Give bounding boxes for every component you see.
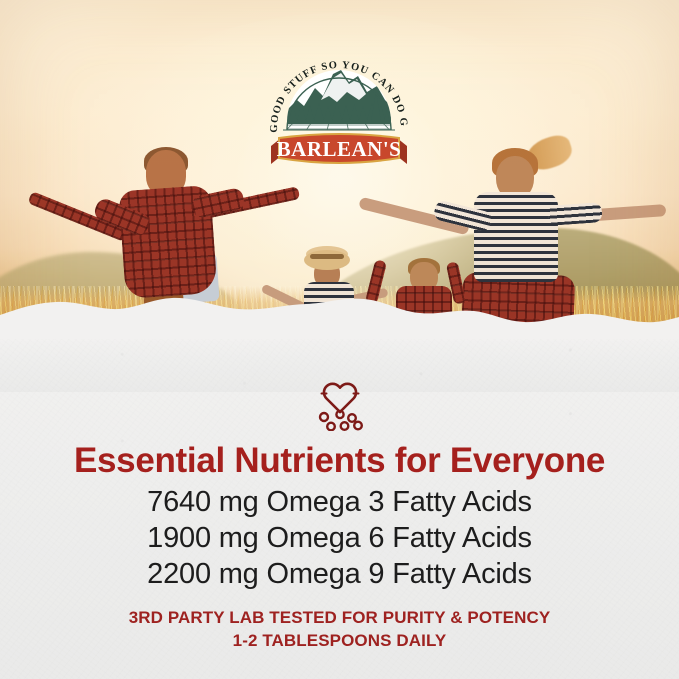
info-content: Essential Nutrients for Everyone 7640 mg… (0, 379, 679, 679)
list-item: 2200 mg Omega 9 Fatty Acids (0, 557, 679, 593)
list-item: 1900 mg Omega 6 Fatty Acids (0, 521, 679, 557)
logo-ribbon-banner: BARLEAN'S (271, 134, 407, 164)
product-infographic-card: WE MAKE GOOD STUFF SO YOU CAN DO GOOD ST… (0, 0, 679, 679)
logo-wordmark: BARLEAN'S (277, 137, 402, 161)
list-item: 7640 mg Omega 3 Fatty Acids (0, 485, 679, 521)
lab-tested-claim: 3RD PARTY LAB TESTED FOR PURITY & POTENC… (0, 607, 679, 630)
torn-edge (0, 285, 679, 341)
page-title: Essential Nutrients for Everyone (0, 443, 679, 479)
claims-block: 3RD PARTY LAB TESTED FOR PURITY & POTENC… (0, 607, 679, 653)
crossed-capsules-icon (313, 379, 367, 431)
dosage-claim: 1-2 TABLESPOONS DAILY (0, 630, 679, 653)
nutrient-fact-list: 7640 mg Omega 3 Fatty Acids 1900 mg Omeg… (0, 485, 679, 593)
barleans-logo: WE MAKE GOOD STUFF SO YOU CAN DO GOOD ST… (263, 26, 415, 168)
